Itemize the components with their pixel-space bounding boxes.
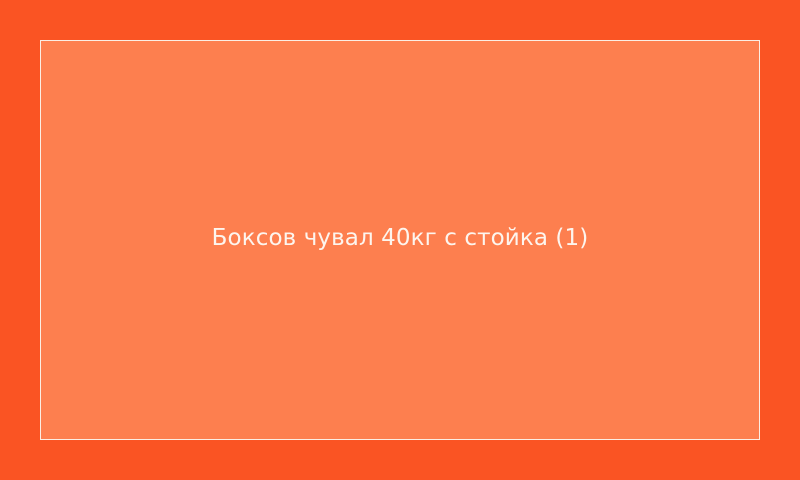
image-placeholder-panel: Боксов чувал 40кг с стойка (1) [40, 40, 760, 440]
image-placeholder-canvas: Боксов чувал 40кг с стойка (1) [0, 0, 800, 480]
image-placeholder-caption: Боксов чувал 40кг с стойка (1) [41, 224, 759, 253]
